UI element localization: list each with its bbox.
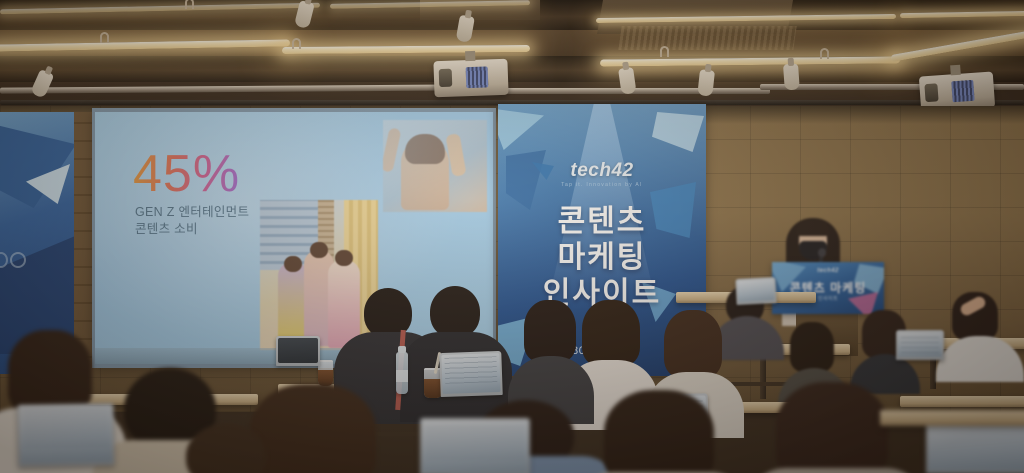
slide-subtitle: GEN Z 엔터테인먼트 콘텐츠 소비 <box>135 204 249 238</box>
laptop <box>735 277 776 305</box>
laptop-screen <box>737 279 774 302</box>
attendee-hair <box>776 382 888 473</box>
conference-hall-photo: 45% GEN Z 엔터테인먼트 콘텐츠 소비 <box>0 0 1024 473</box>
tube-hanger <box>185 0 194 9</box>
laptop-content <box>425 423 525 458</box>
iced-coffee-cup <box>318 360 333 386</box>
attendee-hair <box>524 300 576 362</box>
tube-hanger <box>292 38 301 49</box>
attendee <box>760 382 910 473</box>
attendee-head <box>430 286 480 338</box>
projector-mount <box>465 51 475 61</box>
cup-lid <box>318 360 333 362</box>
projector-lens <box>924 83 938 102</box>
air-duct-grill <box>618 26 796 50</box>
podium-sign: tech42 콘텐츠 마케팅 인사이트 <box>772 262 884 314</box>
track-spotlight <box>783 63 800 90</box>
projector-panel <box>466 66 489 88</box>
photo-head <box>335 250 353 266</box>
banner-tagline: Tap it. Innovation by AI <box>498 182 706 188</box>
laptop-content <box>444 356 497 384</box>
attendee-hair <box>664 310 722 378</box>
attendee-head <box>186 424 266 473</box>
banner-title-line1: 콘텐츠 <box>498 204 706 240</box>
water-bottle <box>396 352 408 394</box>
laptop <box>420 418 530 473</box>
bottle-cap <box>398 346 406 353</box>
banner-shard <box>652 112 704 152</box>
projector-lens <box>439 69 453 87</box>
banner-ring-decoration <box>10 252 26 268</box>
ceiling-projector <box>433 59 508 98</box>
bottle-label <box>396 370 408 382</box>
attendee <box>586 390 736 473</box>
slide-subtitle-line2: 콘텐츠 소비 <box>135 221 249 238</box>
attendee-hair <box>604 390 714 473</box>
attendee-hair <box>790 322 834 372</box>
laptop-screen <box>278 338 318 363</box>
desk <box>880 410 1024 426</box>
desk <box>900 396 1024 407</box>
presenter-bangs <box>796 220 830 236</box>
projector-mount <box>950 65 961 76</box>
attendee-arm <box>960 300 990 330</box>
banner-shard <box>0 122 74 208</box>
slide-photo-woman-glass <box>383 120 487 212</box>
banner-shard <box>498 108 544 150</box>
laptop <box>17 403 114 467</box>
photo-glass-overlay <box>383 120 487 212</box>
tube-hanger <box>100 32 109 43</box>
slide-subtitle-line1: GEN Z 엔터테인먼트 <box>135 204 249 221</box>
ceiling <box>0 0 1024 118</box>
tube-hanger <box>660 46 669 57</box>
banner-logo: tech42 <box>498 160 706 182</box>
attendee-shoulders <box>936 336 1024 382</box>
photo-head <box>284 256 302 272</box>
attendee <box>176 424 296 473</box>
attendee-shoulders <box>746 468 926 473</box>
laptop-content <box>23 408 110 447</box>
laptop-content <box>901 335 939 353</box>
photo-head <box>310 242 328 258</box>
tube-hanger <box>820 48 829 59</box>
laptop <box>896 330 944 360</box>
banner-title-line2: 마케팅 <box>498 240 706 276</box>
projector-panel <box>951 80 974 102</box>
podium-logo: tech42 <box>772 268 884 274</box>
cup-lid <box>424 368 441 370</box>
banner-title: 콘텐츠 마케팅 인사이트 <box>498 204 706 312</box>
laptop <box>439 351 502 397</box>
slide-percent-value: 45% <box>133 144 240 204</box>
laptop <box>276 336 320 366</box>
lighting-rail <box>0 84 470 93</box>
attendee-hair <box>582 300 640 366</box>
